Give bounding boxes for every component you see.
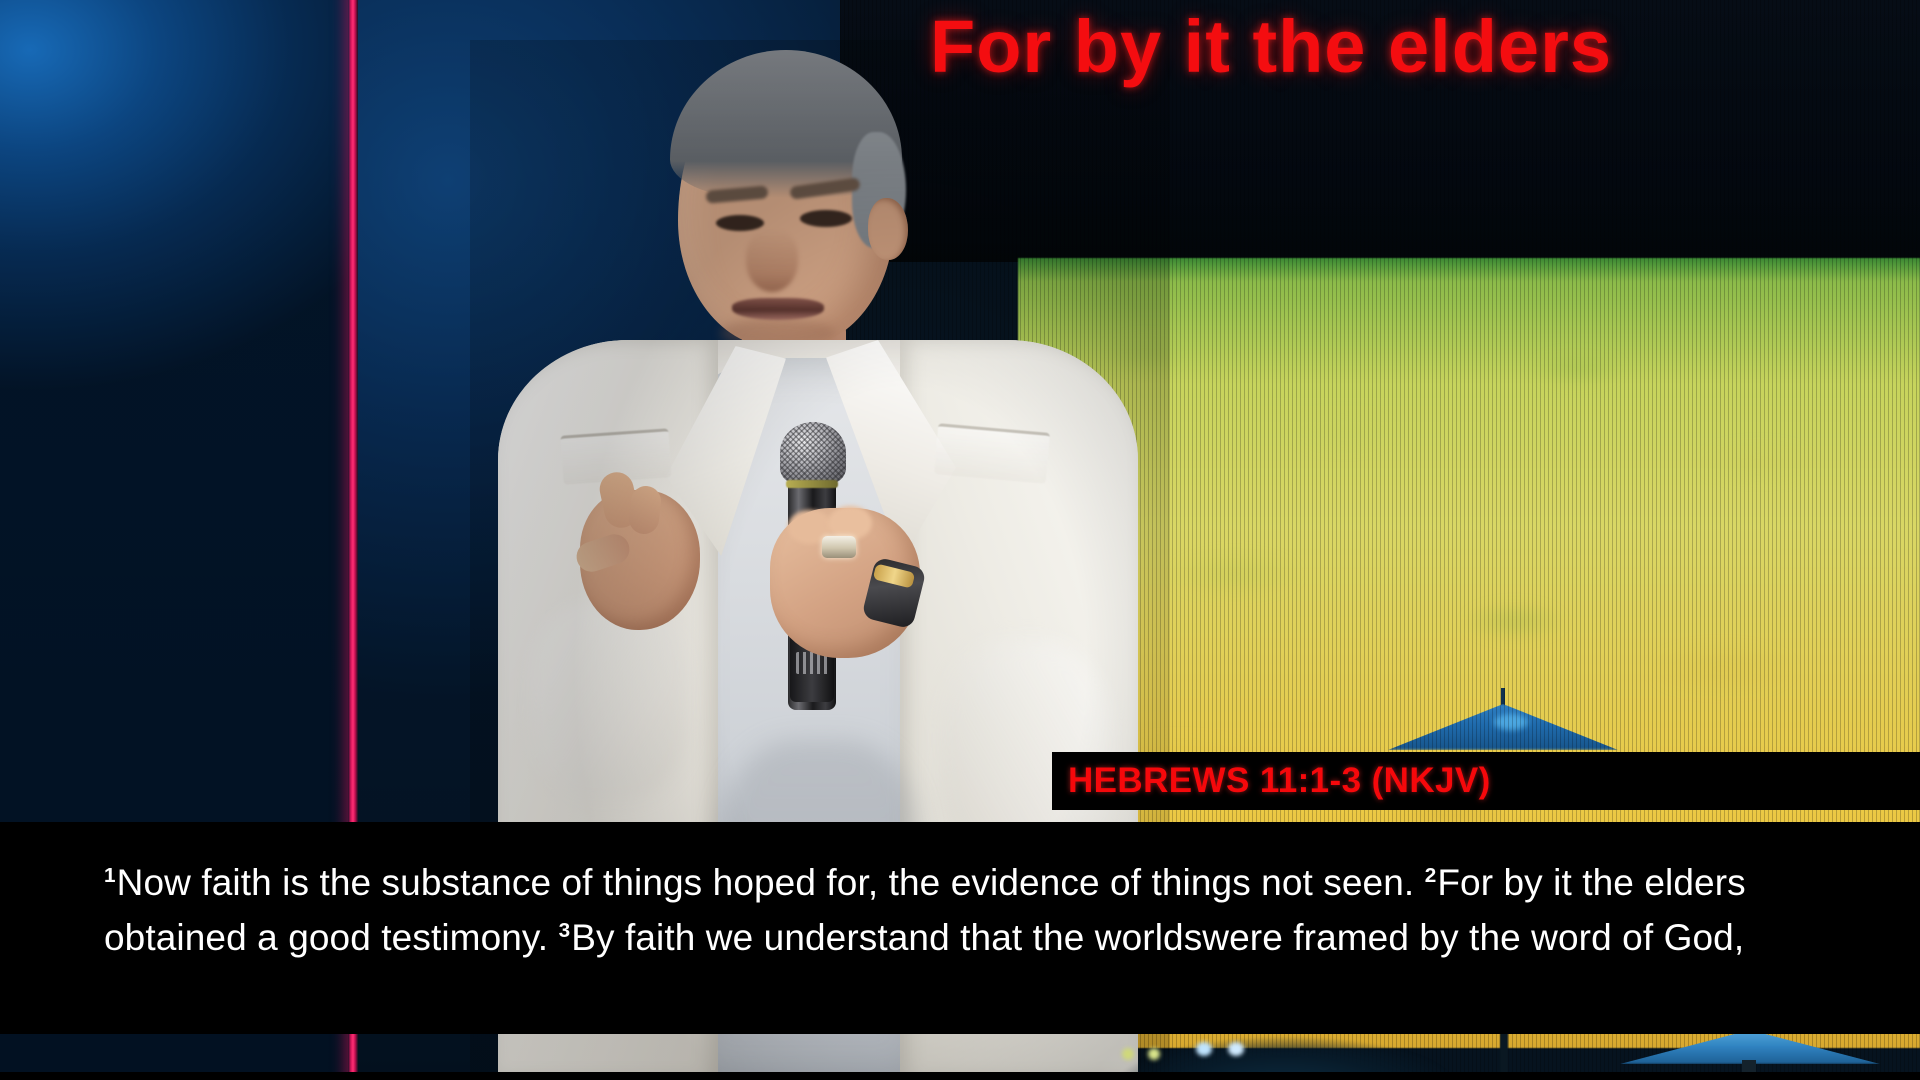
umbrella-highlight (1494, 714, 1528, 730)
microphone-grille (780, 422, 846, 484)
drum-highlight-3 (1122, 1048, 1134, 1060)
screenshot-stage: For by it the elders HEBREWS 11:1-3 (NKJ… (0, 0, 1920, 1080)
eye-left (716, 215, 764, 231)
scripture-reference-bar: HEBREWS 11:1-3 (NKJV) (1052, 752, 1920, 810)
drum-highlight-2 (1228, 1042, 1244, 1056)
letterbox-bar-very-bottom (0, 1072, 1920, 1080)
second-umbrella-canopy (1620, 1030, 1880, 1064)
letterbox-bar-bottom (0, 1020, 1920, 1034)
jacket-pocket-right (934, 423, 1050, 484)
verse-text-1: Now faith is the substance of things hop… (117, 862, 1415, 903)
led-wall-headline-text: For by it the elders (930, 8, 1920, 86)
ear (868, 198, 908, 260)
knuckle-2 (828, 506, 872, 540)
scripture-reference-text: HEBREWS 11:1-3 (NKJV) (1068, 761, 1491, 801)
caption-text-block: 1Now faith is the substance of things ho… (104, 852, 1868, 962)
microphone-ring (786, 480, 838, 488)
finger-ring (822, 536, 856, 558)
eye-right (800, 210, 852, 227)
drum-highlight-4 (1148, 1048, 1160, 1060)
blue-umbrella-prop (1388, 688, 1618, 752)
fabric-fold-1 (530, 600, 690, 800)
drum-highlight-1 (1196, 1042, 1212, 1056)
verse-number-2: 2 (1425, 864, 1437, 887)
verse-text-3: By faith we understand that the worldswe… (571, 917, 1744, 958)
nose (746, 230, 798, 292)
verse-number-3: 3 (559, 919, 571, 942)
verse-number-1: 1 (104, 864, 116, 887)
mouth (732, 298, 824, 320)
